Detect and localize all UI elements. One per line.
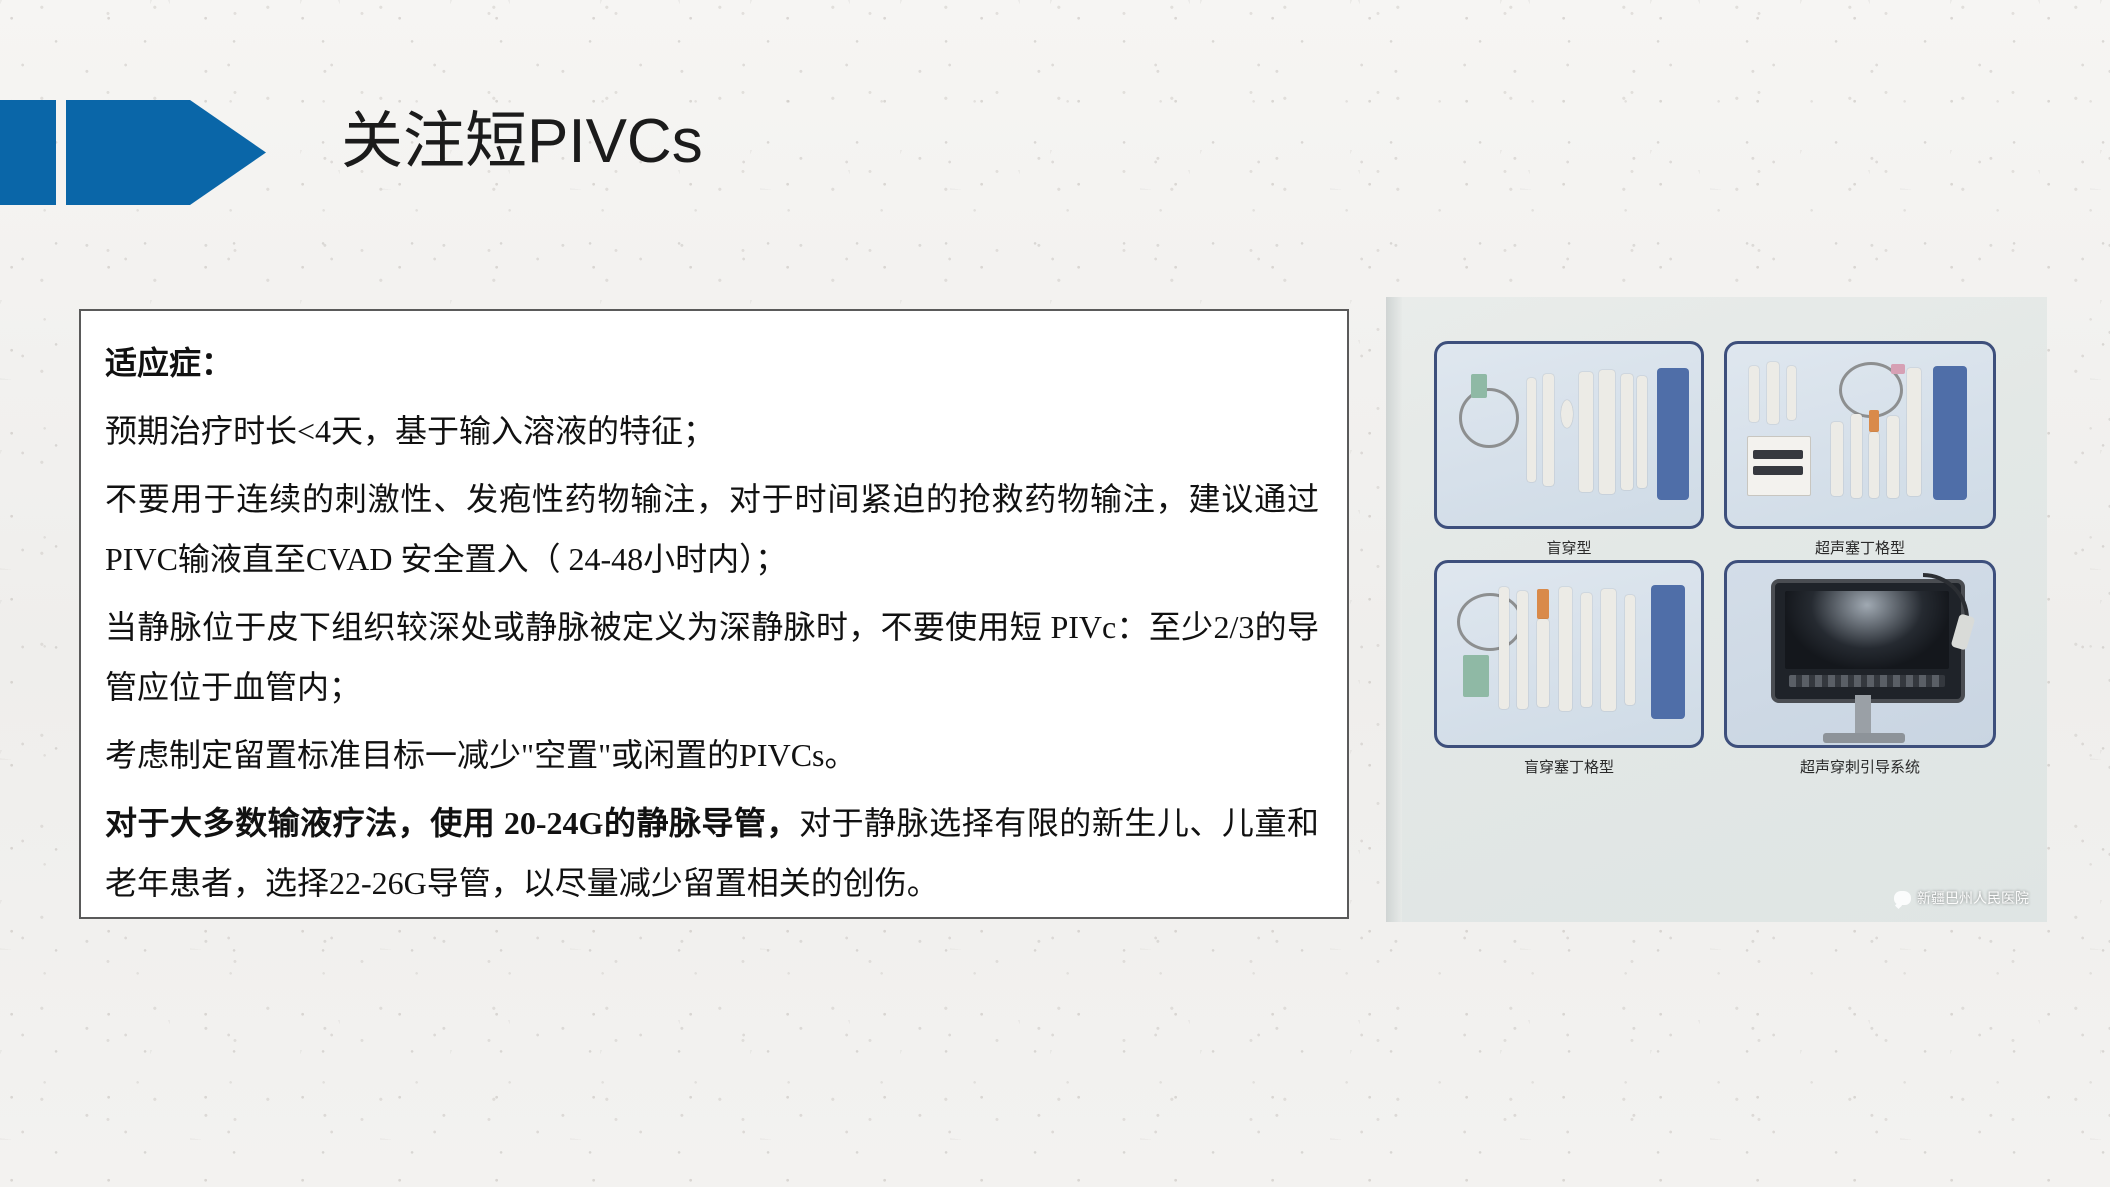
kit-item (1581, 593, 1592, 707)
watermark-text: 新疆巴州人民医院 (1917, 888, 2029, 908)
kit-item (1599, 370, 1615, 494)
photo-left-edge (1386, 297, 1402, 922)
kit-item (1621, 374, 1633, 490)
kit-item (1891, 364, 1905, 374)
kit-photo-blind-puncture (1434, 341, 1704, 529)
tourniquet-band (1933, 366, 1967, 500)
indication-paragraph-1: 预期治疗时长<4天，基于输入溶液的特征； (105, 401, 1319, 461)
photo-caption-blind-puncture: 盲穿型 (1434, 537, 1704, 558)
kit-item (1851, 414, 1862, 498)
kit-item (1637, 376, 1647, 488)
kit-item (1887, 416, 1899, 498)
guidewire-coil-icon (1457, 593, 1523, 651)
kit-item (1753, 466, 1803, 475)
indication-paragraph-2: 不要用于连续的刺激性、发疱性药物输注，对于时间紧迫的抢救药物输注，建议通过PIV… (105, 469, 1319, 589)
slide-canvas: 关注短PIVCs 适应症： 预期治疗时长<4天，基于输入溶液的特征； 不要用于连… (0, 0, 2110, 1187)
guidewire-coil-icon (1459, 388, 1519, 448)
kit-item (1527, 378, 1536, 482)
indications-heading: 适应症： (105, 333, 1319, 393)
header-arrow-decoration (0, 100, 270, 205)
indication-paragraph-5-bold: 对于大多数输液疗法，使用 20-24G的静脉导管， (105, 805, 799, 841)
kit-item (1561, 400, 1573, 428)
kit-item (1625, 595, 1635, 705)
tourniquet-band (1657, 368, 1689, 500)
indication-paragraph-5: 对于大多数输液疗法，使用 20-24G的静脉导管，对于静脉选择有限的新生儿、儿童… (105, 793, 1319, 913)
photo-caption-blind-seldinger: 盲穿塞丁格型 (1434, 756, 1704, 777)
kit-item (1767, 362, 1779, 424)
hospital-watermark: 新疆巴州人民医院 (1894, 888, 2029, 908)
kit-tip-item (1463, 655, 1489, 697)
wechat-icon (1894, 891, 1911, 905)
kit-item (1537, 589, 1549, 619)
indication-paragraph-4: 考虑制定留置标准目标一减少"空置"或闲置的PIVCs。 (105, 725, 1319, 785)
kit-item (1831, 422, 1843, 496)
page-title: 关注短PIVCs (341, 108, 703, 176)
cart-base (1823, 733, 1905, 743)
kit-item (1537, 619, 1549, 707)
arrow-stub-block (0, 100, 56, 205)
photo-caption-ultrasound-guidance: 超声穿刺引导系统 (1724, 756, 1996, 777)
kit-item (1559, 587, 1572, 711)
kit-item (1787, 366, 1796, 420)
indications-text-box: 适应症： 预期治疗时长<4天，基于输入溶液的特征； 不要用于连续的刺激性、发疱性… (79, 309, 1349, 919)
kit-photo-ultrasound-seldinger (1724, 341, 1996, 529)
indication-paragraph-3: 当静脉位于皮下组织较深处或静脉被定义为深静脉时，不要使用短 PIVc：至少2/3… (105, 597, 1319, 717)
ultrasound-guidance-system-photo (1724, 560, 1996, 748)
kit-item (1907, 368, 1921, 496)
kit-photo-blind-seldinger (1434, 560, 1704, 748)
kit-item (1869, 432, 1879, 498)
tourniquet-band (1651, 585, 1685, 719)
photo-caption-ultrasound-seldinger: 超声塞丁格型 (1724, 537, 1996, 558)
kit-item (1517, 591, 1528, 709)
kit-item (1869, 410, 1879, 432)
kit-item (1499, 587, 1509, 709)
kit-item (1601, 589, 1616, 711)
kit-item (1749, 366, 1759, 422)
monitor-stand (1855, 695, 1871, 735)
ultrasound-control-panel (1789, 675, 1945, 687)
arrow-right-icon (66, 100, 266, 205)
kit-item (1579, 372, 1593, 492)
kit-item (1753, 450, 1803, 459)
kit-item (1543, 374, 1554, 486)
kit-tip-item (1471, 374, 1487, 398)
catheter-kits-photo: 盲穿型 超声塞丁格型 盲穿塞丁格型 超声穿刺引导系统 新疆巴州人民医院 (1386, 297, 2047, 922)
